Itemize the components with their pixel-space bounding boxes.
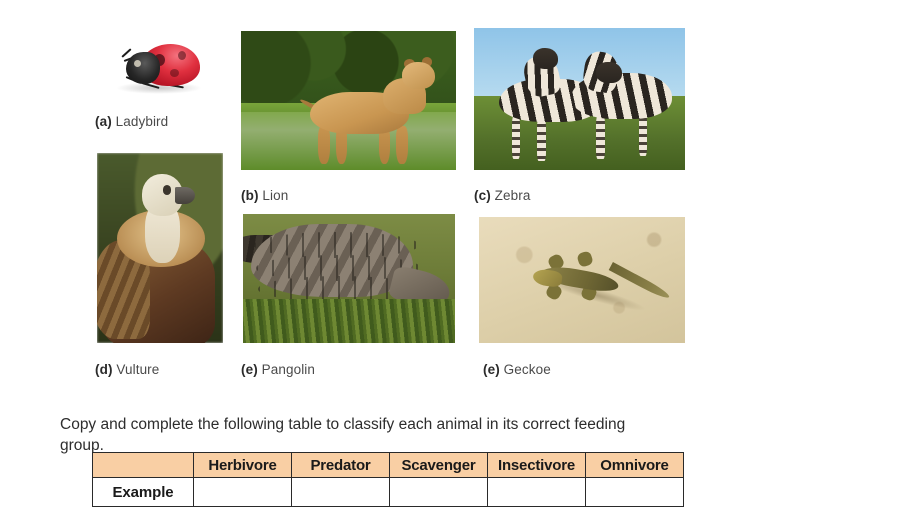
zebra-head	[596, 62, 621, 83]
figure-label: Zebra	[495, 188, 531, 203]
table-header-omnivore: Omnivore	[586, 453, 684, 478]
figure-marker: (a)	[95, 114, 112, 129]
figure-marker: (e)	[241, 362, 258, 377]
figure-label: Ladybird	[116, 114, 169, 129]
ladybird-head-marking	[134, 60, 141, 67]
lion-leg	[396, 126, 408, 165]
figure-caption-pangolin: (e) Pangolin	[241, 362, 315, 377]
table-header-scavenger: Scavenger	[390, 453, 488, 478]
pangolin-photo	[243, 214, 455, 343]
zebra-leg	[512, 116, 520, 159]
zebra-leg	[596, 116, 604, 159]
classification-table: Herbivore Predator Scavenger Insectivore…	[92, 452, 684, 507]
table-cell-scavenger[interactable]	[390, 478, 488, 507]
figure-label: Lion	[262, 188, 288, 203]
figure-caption-vulture: (d) Vulture	[95, 362, 159, 377]
table-header-insectivore: Insectivore	[488, 453, 586, 478]
zebra-head	[533, 48, 558, 69]
vulture-eye	[163, 185, 172, 195]
table-header-herbivore: Herbivore	[194, 453, 292, 478]
geckoe-photo	[479, 217, 685, 343]
table-cell-predator[interactable]	[292, 478, 390, 507]
vulture-photo	[97, 153, 223, 343]
table-cell-herbivore[interactable]	[194, 478, 292, 507]
table-row-label-example: Example	[93, 478, 194, 507]
zebra-photo	[474, 28, 685, 170]
ladybird-head	[126, 52, 160, 84]
figure-marker: (b)	[241, 188, 259, 203]
pangolin-scales	[254, 232, 419, 258]
figure-caption-ladybird: (a) Ladybird	[95, 114, 168, 129]
instruction-text: Copy and complete the following table to…	[60, 414, 660, 456]
figure-marker: (c)	[474, 188, 491, 203]
figure-caption-zebra: (c) Zebra	[474, 188, 530, 203]
table-row: Example	[93, 478, 684, 507]
figure-caption-lion: (b) Lion	[241, 188, 288, 203]
figure-marker: (d)	[95, 362, 113, 377]
table-cell-insectivore[interactable]	[488, 478, 586, 507]
lion-photo	[241, 31, 456, 170]
zebra-leg	[639, 113, 647, 156]
ladybird-spot	[170, 69, 179, 77]
zebra-leg	[537, 119, 545, 162]
figure-marker: (e)	[483, 362, 500, 377]
figure-label: Geckoe	[504, 362, 551, 377]
figure-label: Vulture	[116, 362, 159, 377]
lion-head	[402, 62, 434, 90]
pangolin-foreground-grass	[243, 299, 455, 343]
figure-label: Pangolin	[262, 362, 315, 377]
table-corner-header	[93, 453, 194, 478]
figure-caption-geckoe: (e) Geckoe	[483, 362, 551, 377]
table-cell-omnivore[interactable]	[586, 478, 684, 507]
table-header-predator: Predator	[292, 453, 390, 478]
ladybird-spot	[178, 51, 186, 60]
ladybird-photo	[108, 38, 210, 100]
table-header-row: Herbivore Predator Scavenger Insectivore…	[93, 453, 684, 478]
